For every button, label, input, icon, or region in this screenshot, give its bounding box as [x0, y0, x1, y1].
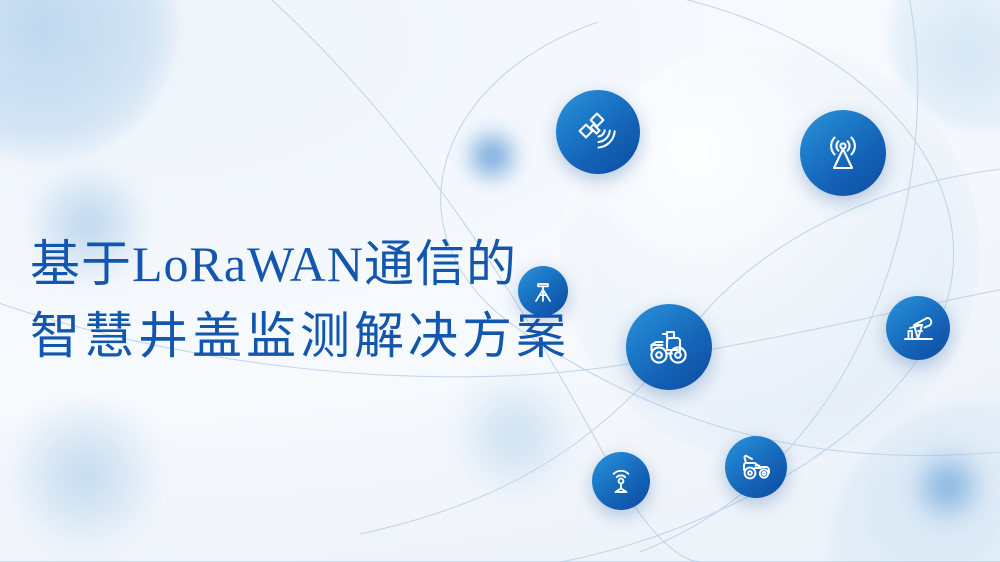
- decor-blob-top-left: [0, 0, 178, 162]
- node-wireless-sensor[interactable]: [592, 452, 650, 510]
- harvester-icon: [737, 448, 775, 486]
- node-oil-pumpjack[interactable]: [886, 296, 950, 360]
- node-antenna-tower[interactable]: [800, 110, 886, 196]
- tractor-icon: [643, 321, 695, 373]
- oil-pumpjack-icon: [899, 309, 937, 347]
- node-tractor[interactable]: [626, 304, 712, 390]
- title-line-1: 基于LoRaWAN通信的: [30, 228, 560, 300]
- decor-blob-top-right: [890, 0, 1000, 130]
- decor-blob-center: [455, 375, 575, 495]
- node-satellite[interactable]: [556, 90, 640, 174]
- node-harvester[interactable]: [725, 436, 787, 498]
- node-survey-tripod[interactable]: [518, 266, 568, 316]
- slide-canvas: 基于LoRaWAN通信的 智慧井盖监测解决方案: [0, 0, 1000, 562]
- antenna-tower-icon: [818, 128, 868, 178]
- title-line-2: 智慧井盖监测解决方案: [30, 300, 560, 372]
- decor-blob-bottom-right-dot: [912, 450, 984, 522]
- decor-blob-bottom-right-large: [830, 402, 1000, 562]
- page-title: 基于LoRaWAN通信的 智慧井盖监测解决方案: [30, 228, 560, 372]
- satellite-icon: [574, 108, 622, 156]
- wireless-sensor-icon: [604, 464, 638, 498]
- survey-tripod-icon: [528, 276, 558, 306]
- decor-blob-accent-dot: [464, 128, 520, 184]
- decor-blob-left-lower: [10, 400, 160, 550]
